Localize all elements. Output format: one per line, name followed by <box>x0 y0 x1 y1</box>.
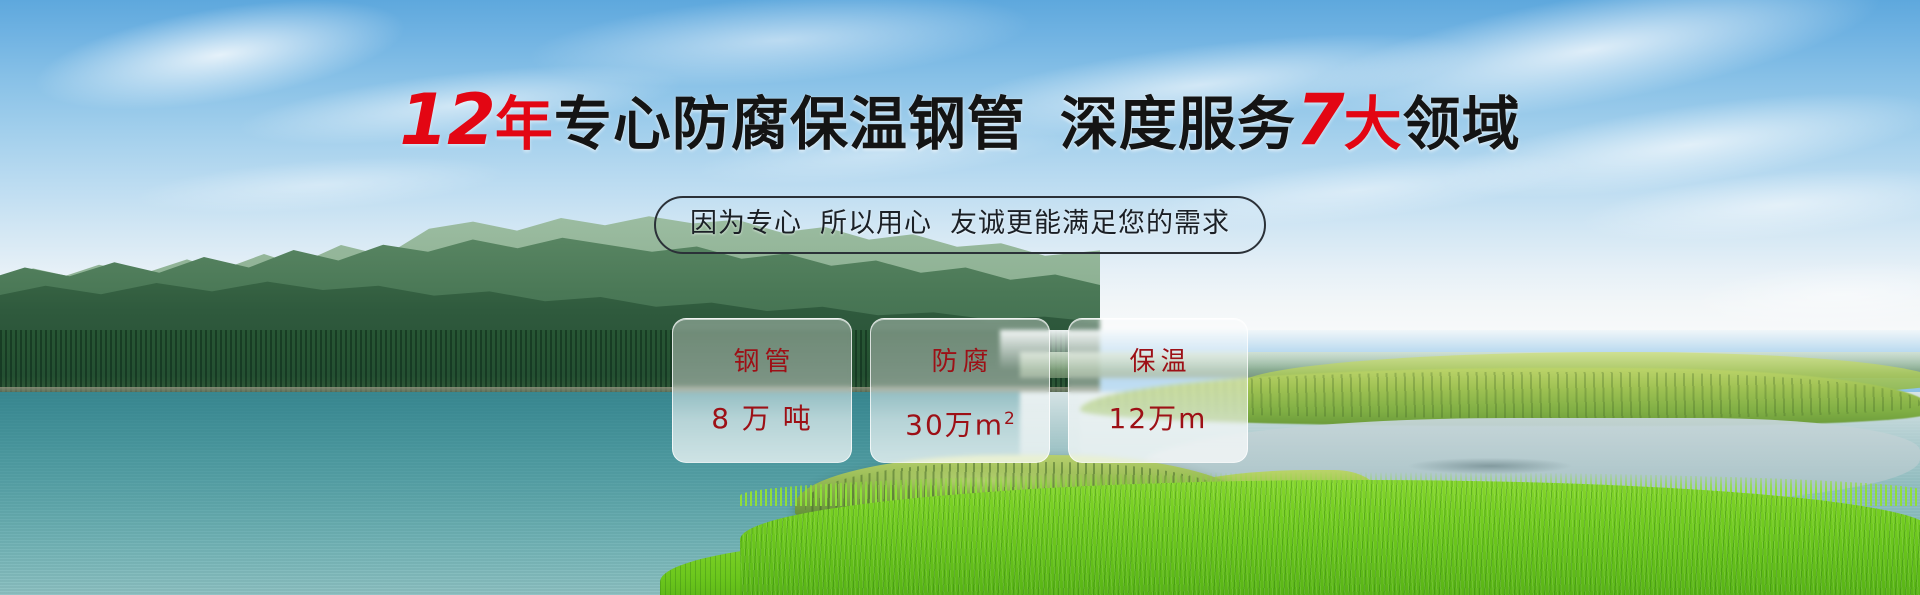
stat-card-title: 钢管 <box>728 345 795 379</box>
stat-card-insulation: 保温 12万m <box>1068 318 1248 463</box>
stat-cards: 钢管 8 万 吨 防腐 30万m2 保温 12万m <box>0 318 1920 463</box>
headline-main-text: 专心防腐保温钢管 <box>554 90 1026 158</box>
stat-card-value-text: 8 万 吨 <box>711 402 813 435</box>
subtitle-part-3: 友诚更能满足您的需求 <box>950 208 1230 239</box>
stat-card-steel-pipe: 钢管 8 万 吨 <box>672 318 852 463</box>
subtitle-part-2: 所以用心 <box>820 208 932 239</box>
headline-years-unit: 年 <box>495 90 554 158</box>
stat-card-value: 12万m <box>1109 401 1208 437</box>
stat-card-value-text: 12万m <box>1109 402 1208 435</box>
promo-banner: 12年专心防腐保温钢管深度服务7大领域 因为专心所以用心友诚更能满足您的需求 钢… <box>0 0 1920 595</box>
stat-card-value-superscript: 2 <box>1004 409 1015 429</box>
stat-card-title: 保温 <box>1124 345 1191 379</box>
headline-fields-text: 领域 <box>1403 90 1521 158</box>
headline: 12年专心防腐保温钢管深度服务7大领域 <box>0 86 1920 158</box>
stat-card-value: 8 万 吨 <box>711 401 813 437</box>
subtitle-container: 因为专心所以用心友诚更能满足您的需求 <box>0 196 1920 254</box>
stat-card-anticorrosion: 防腐 30万m2 <box>870 318 1050 463</box>
subtitle-pill: 因为专心所以用心友诚更能满足您的需求 <box>654 196 1266 254</box>
subtitle-part-1: 因为专心 <box>690 208 802 239</box>
headline-years-number: 12 <box>399 79 494 161</box>
headline-fields-unit: 大 <box>1344 90 1403 158</box>
headline-service-text: 深度服务 <box>1060 90 1296 158</box>
stat-card-title: 防腐 <box>926 345 993 379</box>
stat-card-value-text: 30万m <box>905 408 1004 441</box>
headline-fields-number: 7 <box>1296 79 1344 161</box>
stat-card-value: 30万m2 <box>905 401 1015 443</box>
banner-content: 12年专心防腐保温钢管深度服务7大领域 因为专心所以用心友诚更能满足您的需求 钢… <box>0 0 1920 595</box>
